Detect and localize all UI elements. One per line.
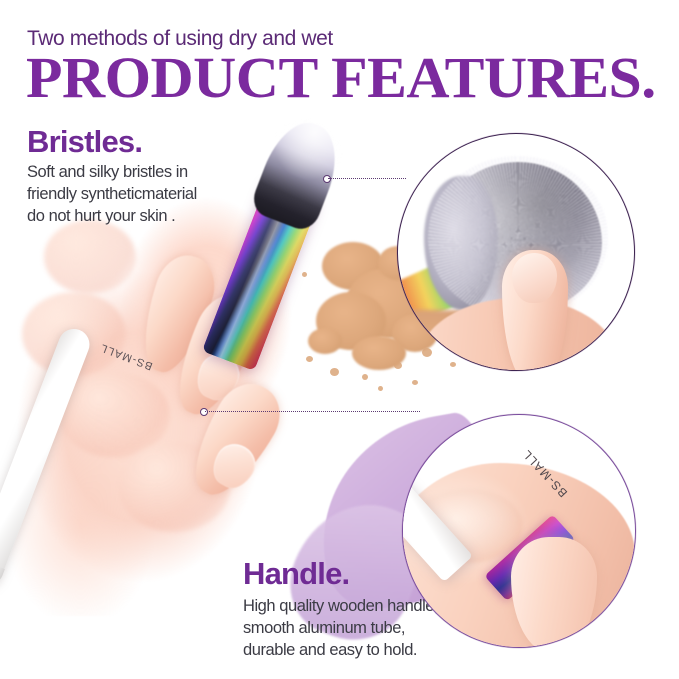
callout-connector-handle bbox=[205, 411, 420, 413]
product-feature-poster: Two methods of using dry and wet PRODUCT… bbox=[0, 0, 679, 679]
callout-connector-bristles bbox=[328, 178, 406, 180]
callout-circle-handle bbox=[402, 414, 636, 648]
callout-circle-bristles bbox=[397, 133, 635, 371]
feature-body-line: friendly syntheticmaterial bbox=[27, 184, 197, 206]
feature-body-line: do not hurt your skin . bbox=[27, 206, 197, 228]
feature-body-bristles: Soft and silky bristles in friendly synt… bbox=[27, 162, 197, 227]
feature-title-handle: Handle. bbox=[243, 556, 349, 592]
feature-body-line: Soft and silky bristles in bbox=[27, 162, 197, 184]
finger-gripping-handle bbox=[511, 537, 597, 648]
page-title: PRODUCT FEATURES. bbox=[26, 49, 656, 107]
feature-title-bristles: Bristles. bbox=[27, 124, 142, 160]
fingernail bbox=[512, 253, 557, 303]
